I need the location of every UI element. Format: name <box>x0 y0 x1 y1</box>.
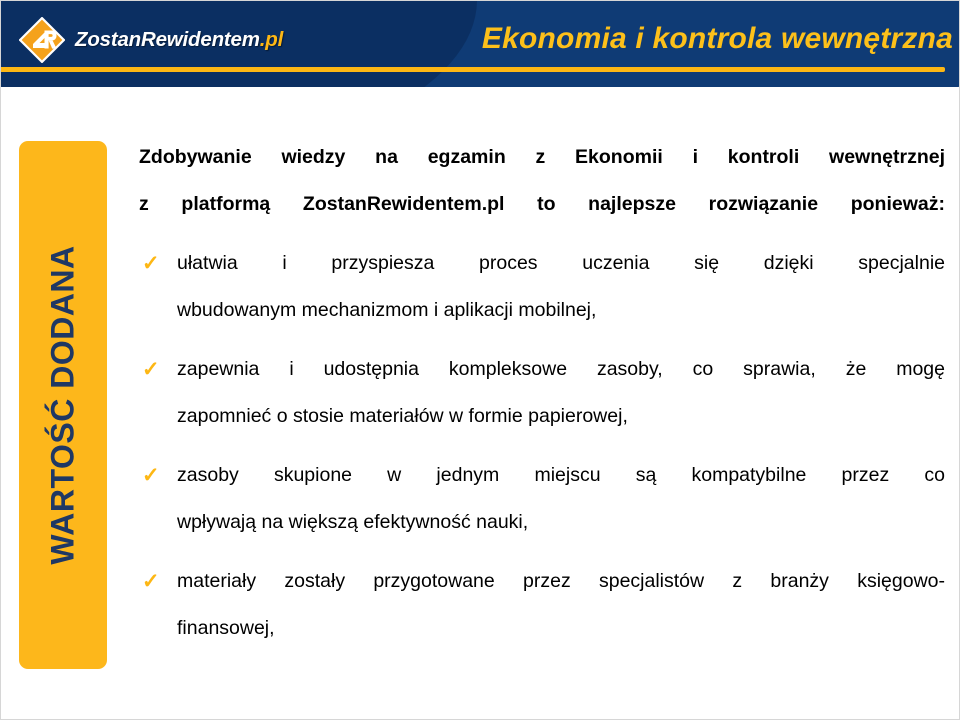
check-mark-icon: ✓ <box>139 240 177 287</box>
brand-logo[interactable]: ZostanRewidentem.pl <box>19 17 283 63</box>
page-title: Ekonomia i kontrola wewnętrzna <box>482 22 953 56</box>
brand-logo-text: ZostanRewidentem.pl <box>75 28 283 52</box>
list-item: ✓ ułatwia i przyspiesza proces uczenia s… <box>139 240 945 334</box>
zostanrewidentem-diamond-logo-icon <box>19 17 65 63</box>
list-item-line-2: zapomnieć o stosie materiałów w formie p… <box>177 393 945 440</box>
list-item-text: ułatwia i przyspiesza proces uczenia się… <box>177 240 945 334</box>
list-item-line-1: ułatwia i przyspiesza proces uczenia się… <box>177 240 945 287</box>
check-mark-icon: ✓ <box>139 452 177 499</box>
list-item-line-2: wbudowanym mechanizmom i aplikacji mobil… <box>177 287 945 334</box>
lead-line-1: Zdobywanie wiedzy na egzamin z Ekonomii … <box>139 134 945 181</box>
list-item-line-1: materiały zostały przygotowane przez spe… <box>177 558 945 605</box>
list-item: ✓ zapewnia i udostępnia kompleksowe zaso… <box>139 346 945 440</box>
list-item-line-1: zapewnia i udostępnia kompleksowe zasoby… <box>177 346 945 393</box>
list-item-text: zasoby skupione w jednym miejscu są komp… <box>177 452 945 546</box>
brand-logo-text-main: ZostanRewidentem <box>75 28 260 51</box>
slide-canvas: ZostanRewidentem.pl Ekonomia i kontrola … <box>0 0 960 720</box>
list-item-line-1: zasoby skupione w jednym miejscu są komp… <box>177 452 945 499</box>
lead-paragraph: Zdobywanie wiedzy na egzamin z Ekonomii … <box>139 134 945 228</box>
list-item-line-2: wpływają na większą efektywność nauki, <box>177 499 945 546</box>
check-mark-icon: ✓ <box>139 346 177 393</box>
list-item-text: zapewnia i udostępnia kompleksowe zasoby… <box>177 346 945 440</box>
check-mark-icon: ✓ <box>139 558 177 605</box>
lead-line-2: z platformą ZostanRewidentem.pl to najle… <box>139 181 945 228</box>
header-accent-rule <box>0 67 945 72</box>
content-body: Zdobywanie wiedzy na egzamin z Ekonomii … <box>139 134 945 652</box>
list-item: ✓ zasoby skupione w jednym miejscu są ko… <box>139 452 945 546</box>
side-tab-wartosc-dodana: WARTOŚĆ DODANA <box>19 141 107 669</box>
list-item-line-2: finansowej, <box>177 605 945 652</box>
brand-logo-text-tld: .pl <box>260 28 283 51</box>
side-tab-label: WARTOŚĆ DODANA <box>45 245 82 564</box>
list-item: ✓ materiały zostały przygotowane przez s… <box>139 558 945 652</box>
slide-header: ZostanRewidentem.pl Ekonomia i kontrola … <box>0 0 960 87</box>
list-item-text: materiały zostały przygotowane przez spe… <box>177 558 945 652</box>
